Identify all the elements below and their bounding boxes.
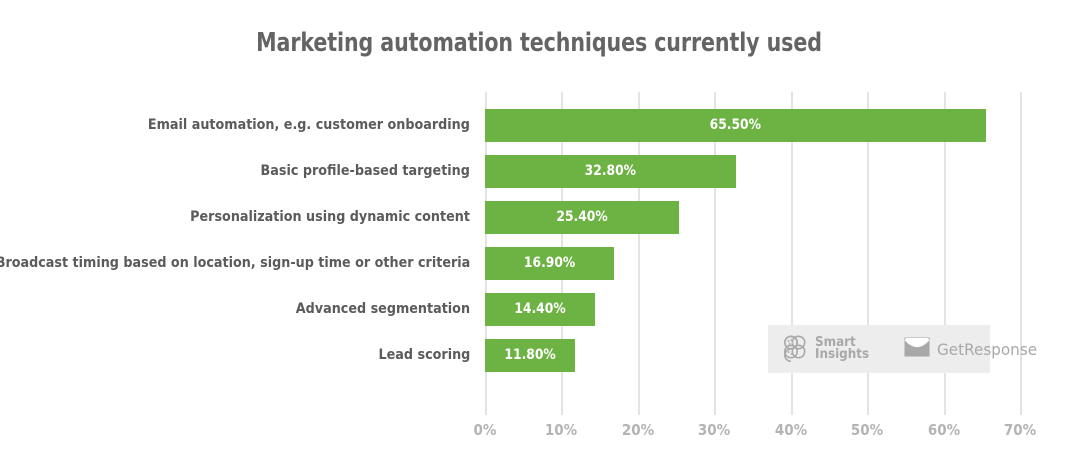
smart-insights-line2: Insights bbox=[815, 349, 869, 361]
category-label: Email automation, e.g. customer onboardi… bbox=[148, 109, 470, 142]
smart-insights-logo: Smart Insights bbox=[780, 332, 874, 367]
category-label: Lead scoring bbox=[378, 339, 470, 372]
bar-row: 65.50% bbox=[485, 109, 1078, 142]
interlocking-circles-icon bbox=[780, 332, 810, 367]
bar-row: 16.90% bbox=[485, 247, 1078, 280]
bar-value-label: 16.90% bbox=[493, 247, 607, 280]
bar-value-label: 11.80% bbox=[490, 339, 569, 372]
x-tick-label: 60% bbox=[917, 421, 971, 439]
x-tick-label: 50% bbox=[840, 421, 894, 439]
bar-row: 25.40% bbox=[485, 201, 1078, 234]
envelope-icon bbox=[904, 337, 930, 362]
category-label: Broadcast timing based on location, sign… bbox=[0, 247, 470, 280]
x-tick-label: 0% bbox=[458, 421, 512, 439]
bar-row: 32.80% bbox=[485, 155, 1078, 188]
category-label: Basic profile-based targeting bbox=[261, 155, 470, 188]
x-tick-label: 10% bbox=[534, 421, 588, 439]
category-axis-labels: Email automation, e.g. customer onboardi… bbox=[0, 92, 470, 415]
category-label: Advanced segmentation bbox=[296, 293, 470, 326]
getresponse-logo: GetResponse bbox=[904, 337, 1042, 362]
bar-row: 14.40% bbox=[485, 293, 1078, 326]
smart-insights-wordmark: Smart Insights bbox=[815, 337, 869, 361]
x-tick-label: 30% bbox=[687, 421, 741, 439]
x-tick-label: 20% bbox=[611, 421, 665, 439]
chart-title: Marketing automation techniques currentl… bbox=[65, 28, 1014, 58]
category-label: Personalization using dynamic content bbox=[190, 201, 470, 234]
bar-chart: Marketing automation techniques currentl… bbox=[0, 0, 1078, 469]
bar-value-label: 65.50% bbox=[515, 109, 956, 142]
getresponse-wordmark: GetResponse bbox=[937, 340, 1037, 359]
bar-value-label: 32.80% bbox=[500, 155, 721, 188]
x-tick-label: 70% bbox=[993, 421, 1047, 439]
bar-value-label: 25.40% bbox=[497, 201, 668, 234]
bar-value-label: 14.40% bbox=[492, 293, 589, 326]
logo-watermark: Smart Insights GetResponse bbox=[768, 325, 990, 373]
x-axis-tick-labels: 0%10%20%30%40%50%60%70% bbox=[485, 421, 1020, 445]
x-tick-label: 40% bbox=[764, 421, 818, 439]
